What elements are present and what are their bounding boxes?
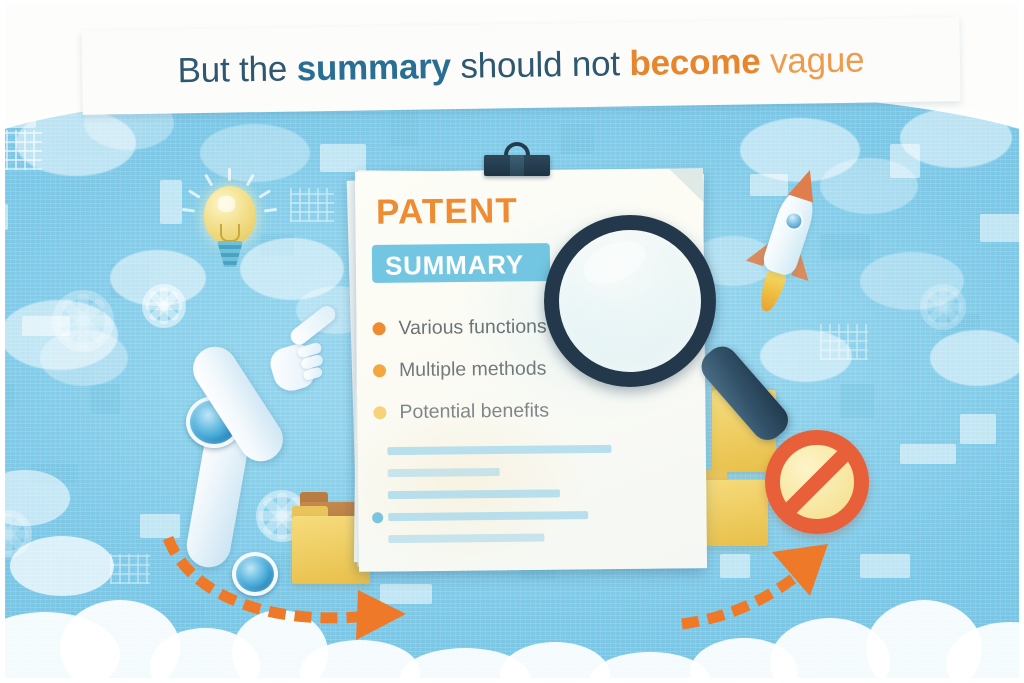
bullet-dot-icon [372, 322, 385, 335]
headline-part-1: But the [177, 49, 297, 90]
bullet-label: Various functions [398, 315, 546, 340]
headline-text: But the summary should not become vague [82, 41, 960, 90]
bullet-label: Multiple methods [399, 357, 547, 382]
binder-clip-icon [484, 142, 550, 176]
dashed-arrow-right-icon [150, 530, 430, 640]
headline-part-summary: summary [296, 47, 451, 88]
bullet-dot-icon [373, 406, 386, 419]
dashed-arrow-up-right-icon [676, 520, 896, 630]
headline-banner: But the summary should not become vague [81, 17, 960, 115]
bullet-dot-icon [373, 364, 386, 377]
page-fold-corner [669, 168, 703, 202]
document-subtitle: SUMMARY [385, 249, 524, 281]
list-item: Potential benefits [373, 389, 633, 434]
document-title: PATENT [376, 191, 518, 232]
prohibition-sign-icon [765, 430, 869, 534]
headline-part-3: should not [451, 44, 630, 86]
headline-part-become: become [629, 42, 761, 83]
headline-part-vague: vague [760, 40, 864, 81]
illustration-canvas: But the summary should not become vague [0, 0, 1024, 683]
bullet-label: Potential benefits [399, 399, 549, 424]
